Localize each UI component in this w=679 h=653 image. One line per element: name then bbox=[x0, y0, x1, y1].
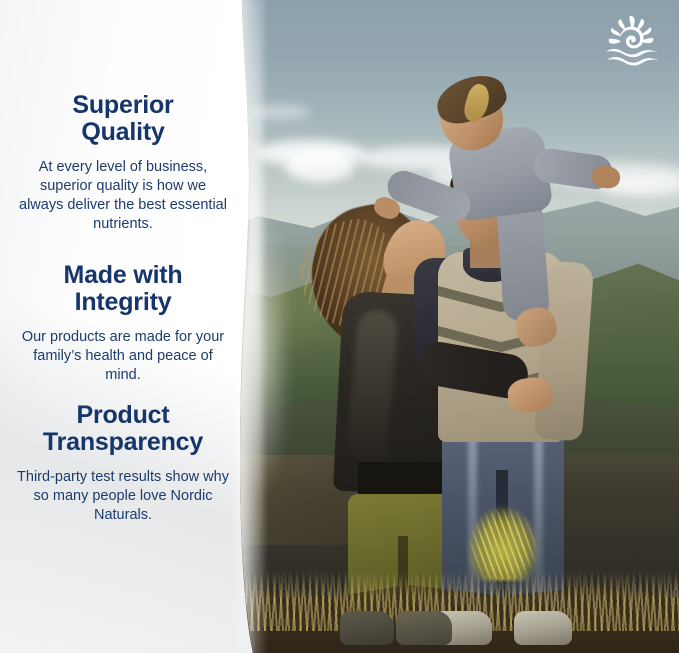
integrity-heading-line2: Integrity bbox=[75, 288, 172, 316]
value-prop-integrity: Made with Integrity Our products are mad… bbox=[16, 262, 230, 385]
cloud bbox=[285, 150, 355, 182]
quality-body: At every level of business, superior qua… bbox=[16, 158, 230, 235]
cloud bbox=[250, 105, 310, 119]
integrity-heading-line1: Made with bbox=[63, 261, 182, 289]
shrub-texture bbox=[470, 509, 536, 579]
quality-heading-line1: Superior bbox=[72, 91, 173, 119]
value-prop-quality: Superior Quality At every level of busin… bbox=[16, 92, 230, 235]
promo-banner: Superior Quality At every level of busin… bbox=[0, 0, 679, 653]
value-prop-transparency: Product Transparency Third-party test re… bbox=[14, 402, 232, 525]
quality-heading: Superior Quality bbox=[16, 92, 230, 145]
transparency-body: Third-party test results show why so man… bbox=[14, 468, 232, 525]
integrity-heading: Made with Integrity bbox=[16, 262, 230, 315]
transparency-heading-line2: Transparency bbox=[43, 428, 203, 456]
transparency-heading-line1: Product bbox=[76, 401, 169, 429]
value-props: Superior Quality At every level of busin… bbox=[0, 0, 246, 653]
woman-shoe bbox=[340, 611, 394, 645]
man-shoe bbox=[514, 611, 572, 645]
integrity-body: Our products are made for your family’s … bbox=[16, 328, 230, 385]
quality-heading-line2: Quality bbox=[81, 118, 164, 146]
child-leg bbox=[496, 199, 550, 322]
transparency-heading: Product Transparency bbox=[14, 402, 232, 455]
woman-shoe bbox=[396, 611, 452, 645]
sun-waves-logo-icon bbox=[601, 14, 663, 70]
